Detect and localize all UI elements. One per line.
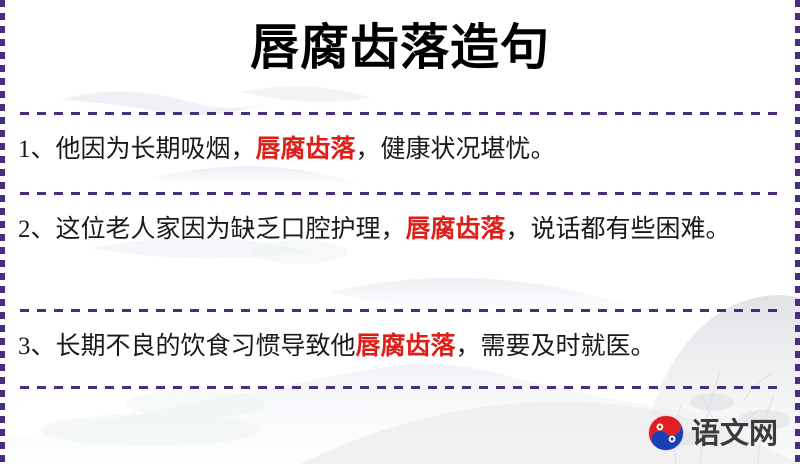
sentence-2-before: 这位老人家因为缺乏口腔护理， <box>56 216 406 243</box>
sentence-1-idiom: 唇腐齿落 <box>256 134 356 163</box>
example-sentence-2: 2、这位老人家因为缺乏口腔护理，唇腐齿落，说话都有些困难。 <box>18 207 784 252</box>
sentence-3-before: 长期不良的饮食习惯导致他 <box>56 333 356 360</box>
watermark-logo: 语文网 <box>647 414 778 452</box>
sentence-3-idiom: 唇腐齿落 <box>356 331 456 360</box>
sentence-1-number: 1、 <box>18 136 56 163</box>
divider-rule-3 <box>20 309 780 312</box>
example-sentence-3: 3、长期不良的饮食习惯导致他唇腐齿落，需要及时就医。 <box>18 324 784 369</box>
content-area: 唇腐齿落造句 1、他因为长期吸烟，唇腐齿落，健康状况堪忧。 2、这位老人家因为缺… <box>0 0 800 464</box>
page-title: 唇腐齿落造句 <box>0 16 800 78</box>
brand-name-text: 语文网 <box>691 419 778 448</box>
document-page: 唇腐齿落造句 1、他因为长期吸烟，唇腐齿落，健康状况堪忧。 2、这位老人家因为缺… <box>0 0 800 464</box>
sentence-2-number: 2、 <box>18 216 56 243</box>
sentence-3-after: ，需要及时就医。 <box>456 333 656 360</box>
divider-rule-2 <box>20 192 780 195</box>
right-dashed-border <box>795 0 800 464</box>
example-sentence-1: 1、他因为长期吸烟，唇腐齿落，健康状况堪忧。 <box>18 127 784 172</box>
divider-rule-1 <box>20 112 780 115</box>
sentence-1-after: ，健康状况堪忧。 <box>356 136 556 163</box>
sentence-3-number: 3、 <box>18 333 56 360</box>
sentence-2-after: ，说话都有些困难。 <box>506 216 731 243</box>
yinyang-circle-logo-icon <box>647 414 685 452</box>
divider-rule-4 <box>20 386 780 389</box>
sentence-2-idiom: 唇腐齿落 <box>406 214 506 243</box>
sentence-1-before: 他因为长期吸烟， <box>56 136 256 163</box>
left-dashed-border <box>0 0 5 464</box>
